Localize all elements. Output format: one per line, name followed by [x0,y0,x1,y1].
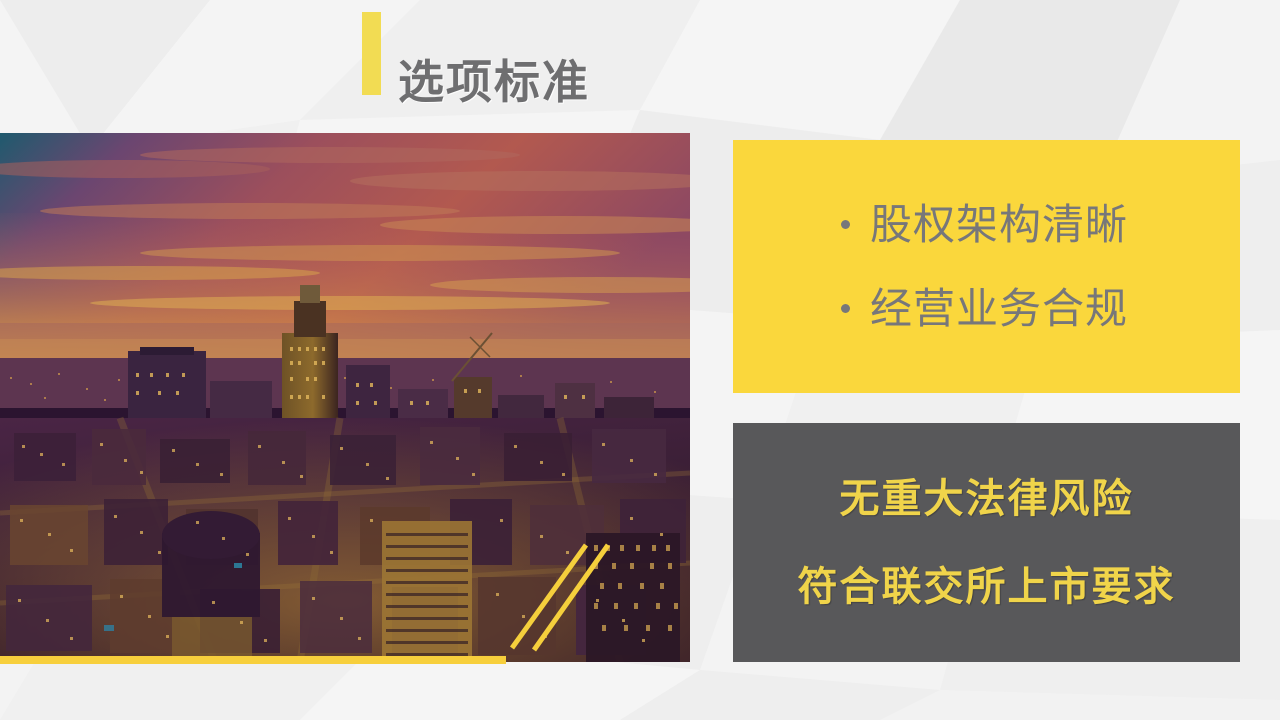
city-skyline-image [0,133,690,662]
gray-panel-line: 无重大法律风险 [840,471,1134,527]
title-accent-bar [362,12,381,95]
criteria-gray-panel: 无重大法律风险 符合联交所上市要求 [733,423,1240,662]
bullet-dot-icon [841,304,850,313]
city-skyline-illustration [0,133,690,662]
photo-underline-accent [0,656,506,664]
bullet-label: 股权架构清晰 [870,199,1128,251]
list-item: 股权架构清晰 [841,199,1240,251]
presentation-slide: 选项标准 [0,0,1280,720]
page-title: 选项标准 [398,45,590,119]
gray-panel-line: 符合联交所上市要求 [798,559,1176,615]
bullet-label: 经营业务合规 [870,283,1128,335]
list-item: 经营业务合规 [841,283,1240,335]
bullet-dot-icon [841,220,850,229]
criteria-yellow-panel: 股权架构清晰 经营业务合规 [733,140,1240,393]
